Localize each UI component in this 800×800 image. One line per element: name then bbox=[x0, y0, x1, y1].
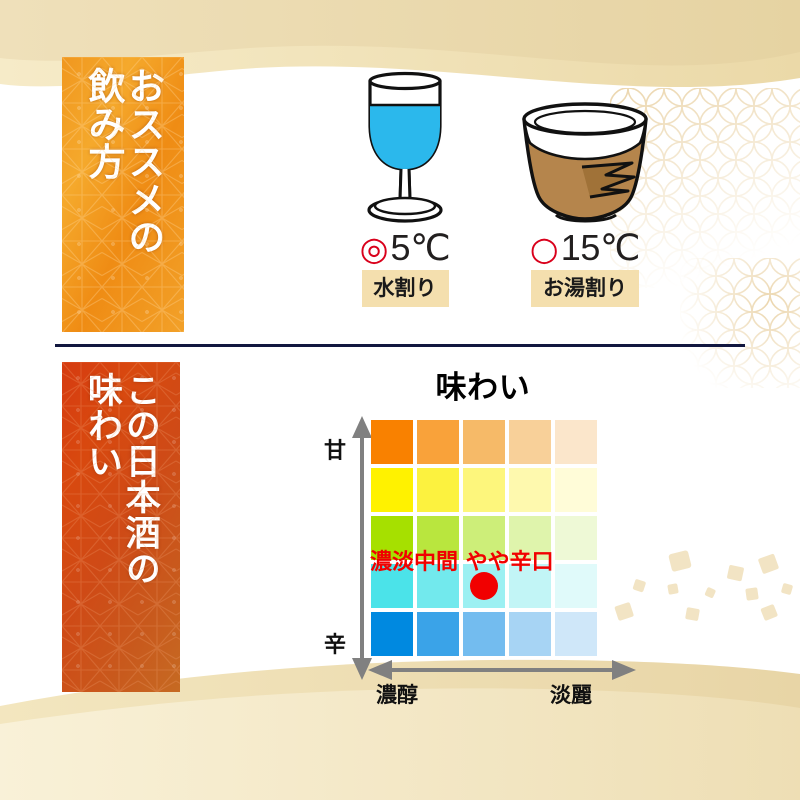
axis-label-rich: 濃醇 bbox=[376, 684, 418, 705]
temperature-value: 15℃ bbox=[561, 230, 640, 266]
asanoha-pattern-drink bbox=[62, 57, 184, 332]
axis-label-sweet: 甘 bbox=[324, 440, 346, 462]
drink-item: ○ 15℃ お湯割り bbox=[490, 62, 680, 307]
taste-cell bbox=[463, 468, 505, 512]
taste-cell bbox=[555, 612, 597, 656]
banner-recommended-drinking: おススメの 飲み方 bbox=[62, 57, 184, 332]
axis-label-light: 淡麗 bbox=[550, 684, 592, 705]
taste-cell bbox=[555, 468, 597, 512]
drink-method-chip: お湯割り bbox=[531, 270, 639, 307]
taste-cell bbox=[371, 468, 413, 512]
temperature-row: ◎ 5℃ bbox=[310, 228, 500, 268]
taste-cell bbox=[417, 468, 459, 512]
drink-illustration bbox=[310, 62, 500, 232]
infographic-canvas: おススメの 飲み方 この日本酒の 味わい bbox=[0, 0, 800, 800]
wine-glass-icon bbox=[350, 67, 460, 232]
taste-cell bbox=[417, 420, 459, 464]
taste-cell bbox=[509, 420, 551, 464]
taste-cell bbox=[555, 420, 597, 464]
temperature-row: ○ 15℃ bbox=[490, 228, 680, 268]
taste-cell bbox=[371, 612, 413, 656]
taste-cell bbox=[371, 420, 413, 464]
taste-cell bbox=[509, 468, 551, 512]
taste-cell bbox=[463, 612, 505, 656]
rating-mark-icon: ◎ bbox=[360, 232, 389, 265]
rating-mark-icon: ○ bbox=[530, 232, 559, 265]
taste-marker-label: 濃淡中間 やや辛口 bbox=[370, 552, 650, 574]
axis-horizontal-arrow bbox=[366, 659, 638, 681]
axis-vertical-arrow bbox=[351, 414, 373, 682]
taste-cell bbox=[509, 612, 551, 656]
temperature-value: 5℃ bbox=[391, 230, 451, 266]
taste-cell bbox=[417, 612, 459, 656]
taste-chart: 味わい 甘 辛 濃醇 淡麗 濃淡中間 やや辛口 bbox=[318, 362, 648, 712]
banner-sake-taste: この日本酒の 味わい bbox=[62, 362, 180, 692]
drink-method-chip: 水割り bbox=[362, 270, 449, 307]
chart-title: 味わい bbox=[318, 362, 648, 407]
drink-item: ◎ 5℃ 水割り bbox=[310, 62, 500, 307]
taste-grid bbox=[371, 420, 597, 656]
axis-label-dry: 辛 bbox=[324, 634, 346, 656]
drink-recommendation-list: ◎ 5℃ 水割り bbox=[300, 62, 700, 317]
asanoha-pattern-taste bbox=[62, 362, 180, 692]
section-divider bbox=[55, 344, 745, 347]
taste-marker-dot bbox=[470, 572, 498, 600]
ceramic-cup-icon bbox=[510, 67, 660, 232]
drink-illustration bbox=[490, 62, 680, 232]
taste-cell bbox=[463, 420, 505, 464]
